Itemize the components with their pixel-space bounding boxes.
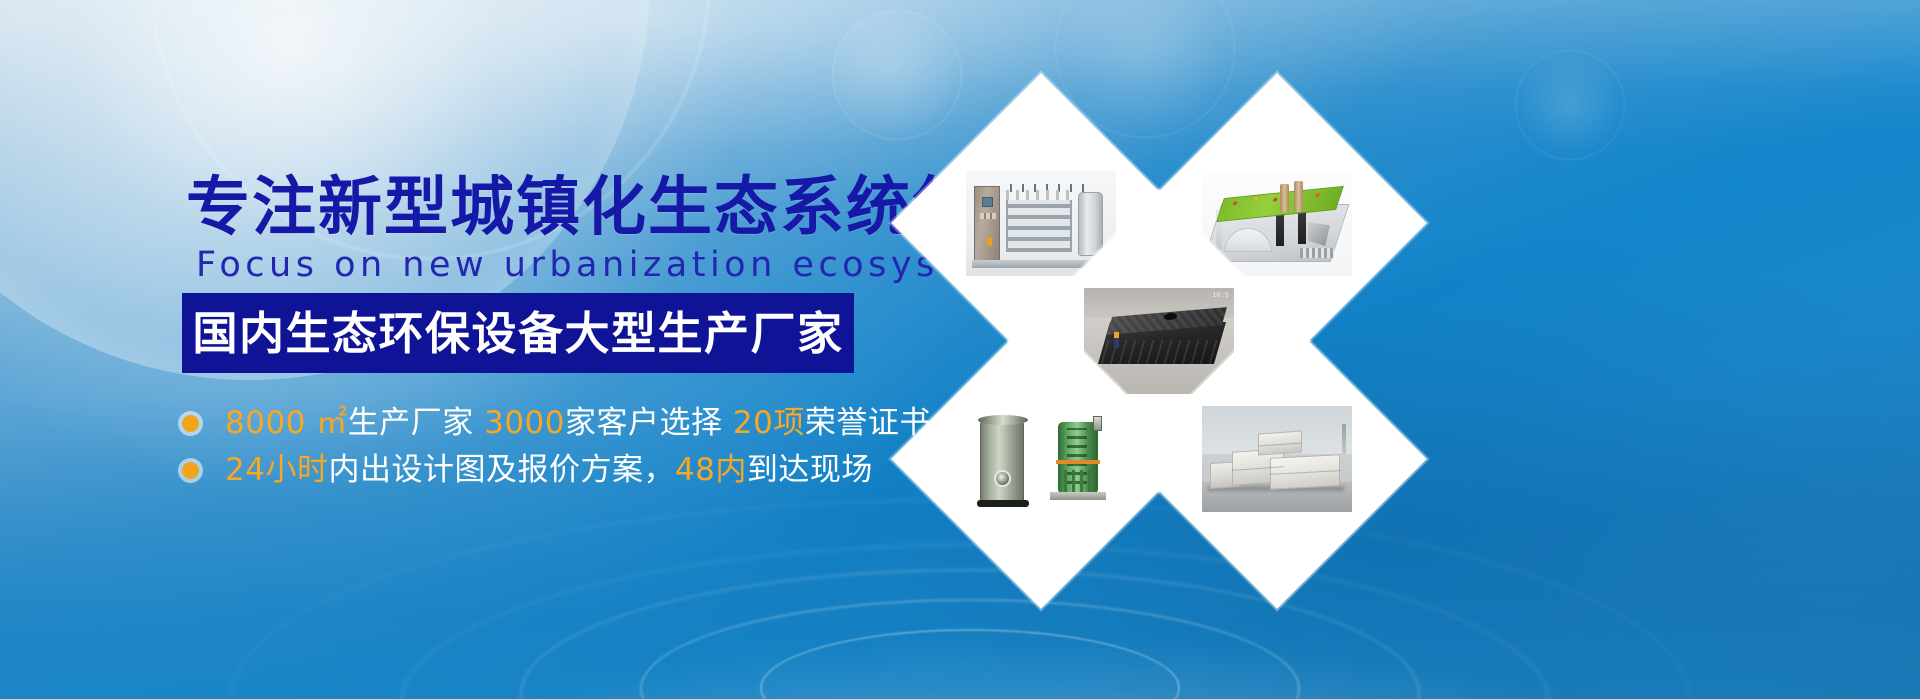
support-bar bbox=[1056, 460, 1100, 464]
cylinder-base bbox=[977, 500, 1029, 507]
reactor-column-b bbox=[1298, 210, 1306, 244]
background-tower bbox=[1342, 424, 1346, 454]
grp-cylinder-shell bbox=[980, 418, 1024, 504]
list-item: 24小时内出设计图及报价方案，48内到达现场 bbox=[182, 447, 942, 494]
inlet-port bbox=[994, 470, 1011, 487]
headline-english: Focus on new urbanization ecosystem bbox=[196, 248, 1022, 283]
bullet-dot-icon bbox=[182, 462, 199, 479]
aac-concrete-blocks-photo bbox=[1202, 406, 1352, 512]
bullet-text-1: 8000 ㎡生产厂家 3000家客户选择 20项荣誉证书 bbox=[225, 408, 931, 439]
base-plate bbox=[1050, 492, 1106, 500]
cylinder-lid bbox=[978, 415, 1028, 425]
diamond-content bbox=[935, 353, 1147, 565]
worker-figure bbox=[1114, 332, 1119, 348]
cabinet-buttons bbox=[980, 213, 996, 219]
control-box bbox=[1093, 416, 1102, 431]
pressure-tank bbox=[1078, 192, 1103, 256]
pump-station-cylinders-photo bbox=[966, 406, 1116, 512]
badge-label: 国内生态环保设备大型生产厂家 bbox=[192, 311, 843, 356]
ro-membrane-housings bbox=[1006, 200, 1072, 252]
bullet-text-2: 24小时内出设计图及报价方案，48内到达现场 bbox=[225, 455, 873, 486]
equipment-panel bbox=[1300, 248, 1334, 258]
product-diamond-gallery: 16:9 2020-07-01 bbox=[905, 55, 1920, 615]
diamond-content bbox=[1171, 353, 1383, 565]
pump-station-cutaway bbox=[1054, 416, 1102, 500]
feature-bullet-list: 8000 ㎡生产厂家 3000家客户选择 20项荣誉证书 24小时内出设计图及报… bbox=[182, 400, 942, 494]
list-item: 8000 ㎡生产厂家 3000家客户选择 20项荣誉证书 bbox=[182, 400, 942, 447]
badge-box: 国内生态环保设备大型生产厂家 bbox=[182, 293, 854, 373]
silo-b bbox=[1294, 181, 1303, 212]
control-cabinet bbox=[974, 186, 1000, 262]
pump-pipes bbox=[1064, 470, 1092, 492]
bullet-dot-icon bbox=[182, 415, 199, 432]
banner-text-column: 专注新型城镇化生态系统领域 Focus on new urbanization … bbox=[0, 0, 960, 699]
cabinet-lamp bbox=[987, 237, 992, 246]
cabinet-screen bbox=[982, 197, 993, 207]
hero-banner: 专注新型城镇化生态系统领域 Focus on new urbanization … bbox=[0, 0, 1920, 699]
photo-time-stamp: 16:9 bbox=[1212, 291, 1229, 299]
silo-a bbox=[1280, 184, 1289, 212]
